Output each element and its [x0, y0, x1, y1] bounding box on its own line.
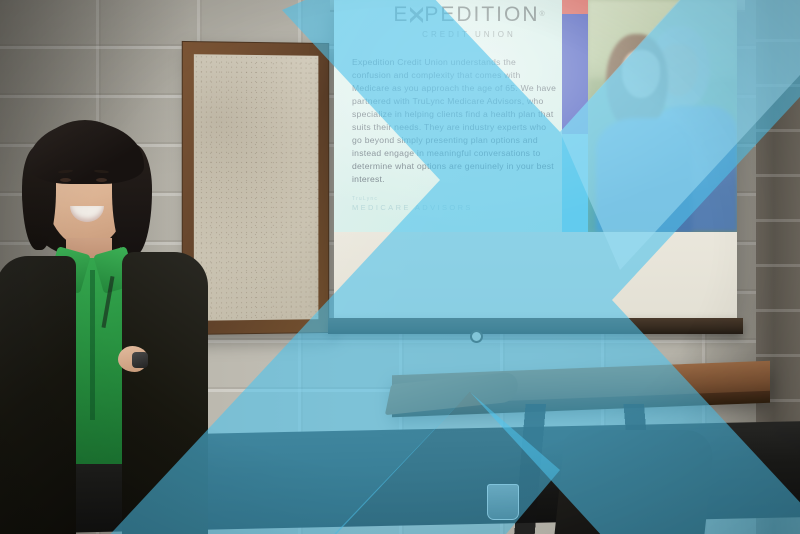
photo-projection-wash — [588, 0, 737, 232]
logo-subtitle: CREDIT UNION — [374, 30, 564, 39]
drinking-glass — [487, 484, 519, 520]
slide-body-text: Expedition Credit Union understands the … — [352, 56, 557, 186]
medicare-advisors-label: MEDICARE ADVISORS — [352, 203, 473, 212]
presenter-clicker — [132, 352, 148, 368]
color-bar-red — [562, 0, 588, 14]
slide-color-bar — [562, 0, 588, 232]
chair — [555, 430, 716, 534]
projector-screen: E PEDITION ® CREDIT UNION Expedition Cre… — [334, 0, 737, 318]
chevron-x-icon — [409, 6, 424, 24]
presenter-cardigan-left — [0, 256, 76, 534]
projected-slide: E PEDITION ® CREDIT UNION Expedition Cre… — [334, 0, 737, 232]
logo-rest: PEDITION — [424, 4, 539, 25]
logo-letter-e: E — [393, 4, 409, 25]
color-bar-blue — [562, 14, 588, 134]
screen-blank-area — [334, 232, 737, 318]
projector-screen-bottom-bar — [328, 318, 743, 334]
slide-footer-lockup: TruLync MEDICARE ADVISORS — [352, 196, 473, 212]
presenter-eye-right — [96, 178, 107, 182]
logo-wordmark: E PEDITION ® — [374, 4, 564, 25]
presenter-hair-front — [28, 122, 144, 184]
slide-text-column: E PEDITION ® CREDIT UNION Expedition Cre… — [334, 0, 562, 232]
presenter-person — [0, 120, 214, 534]
expedition-logo: E PEDITION ® CREDIT UNION — [374, 4, 564, 39]
logo-trademark: ® — [540, 11, 545, 18]
trulync-mark: TruLync — [352, 196, 473, 202]
photo-scene: E PEDITION ® CREDIT UNION Expedition Cre… — [0, 0, 800, 534]
presenter-top-placket — [90, 270, 95, 420]
color-bar-teal — [562, 134, 588, 232]
presenter-cardigan-right — [122, 252, 208, 534]
slide-couple-photo — [588, 0, 737, 232]
presenter-eye-left — [60, 178, 71, 182]
